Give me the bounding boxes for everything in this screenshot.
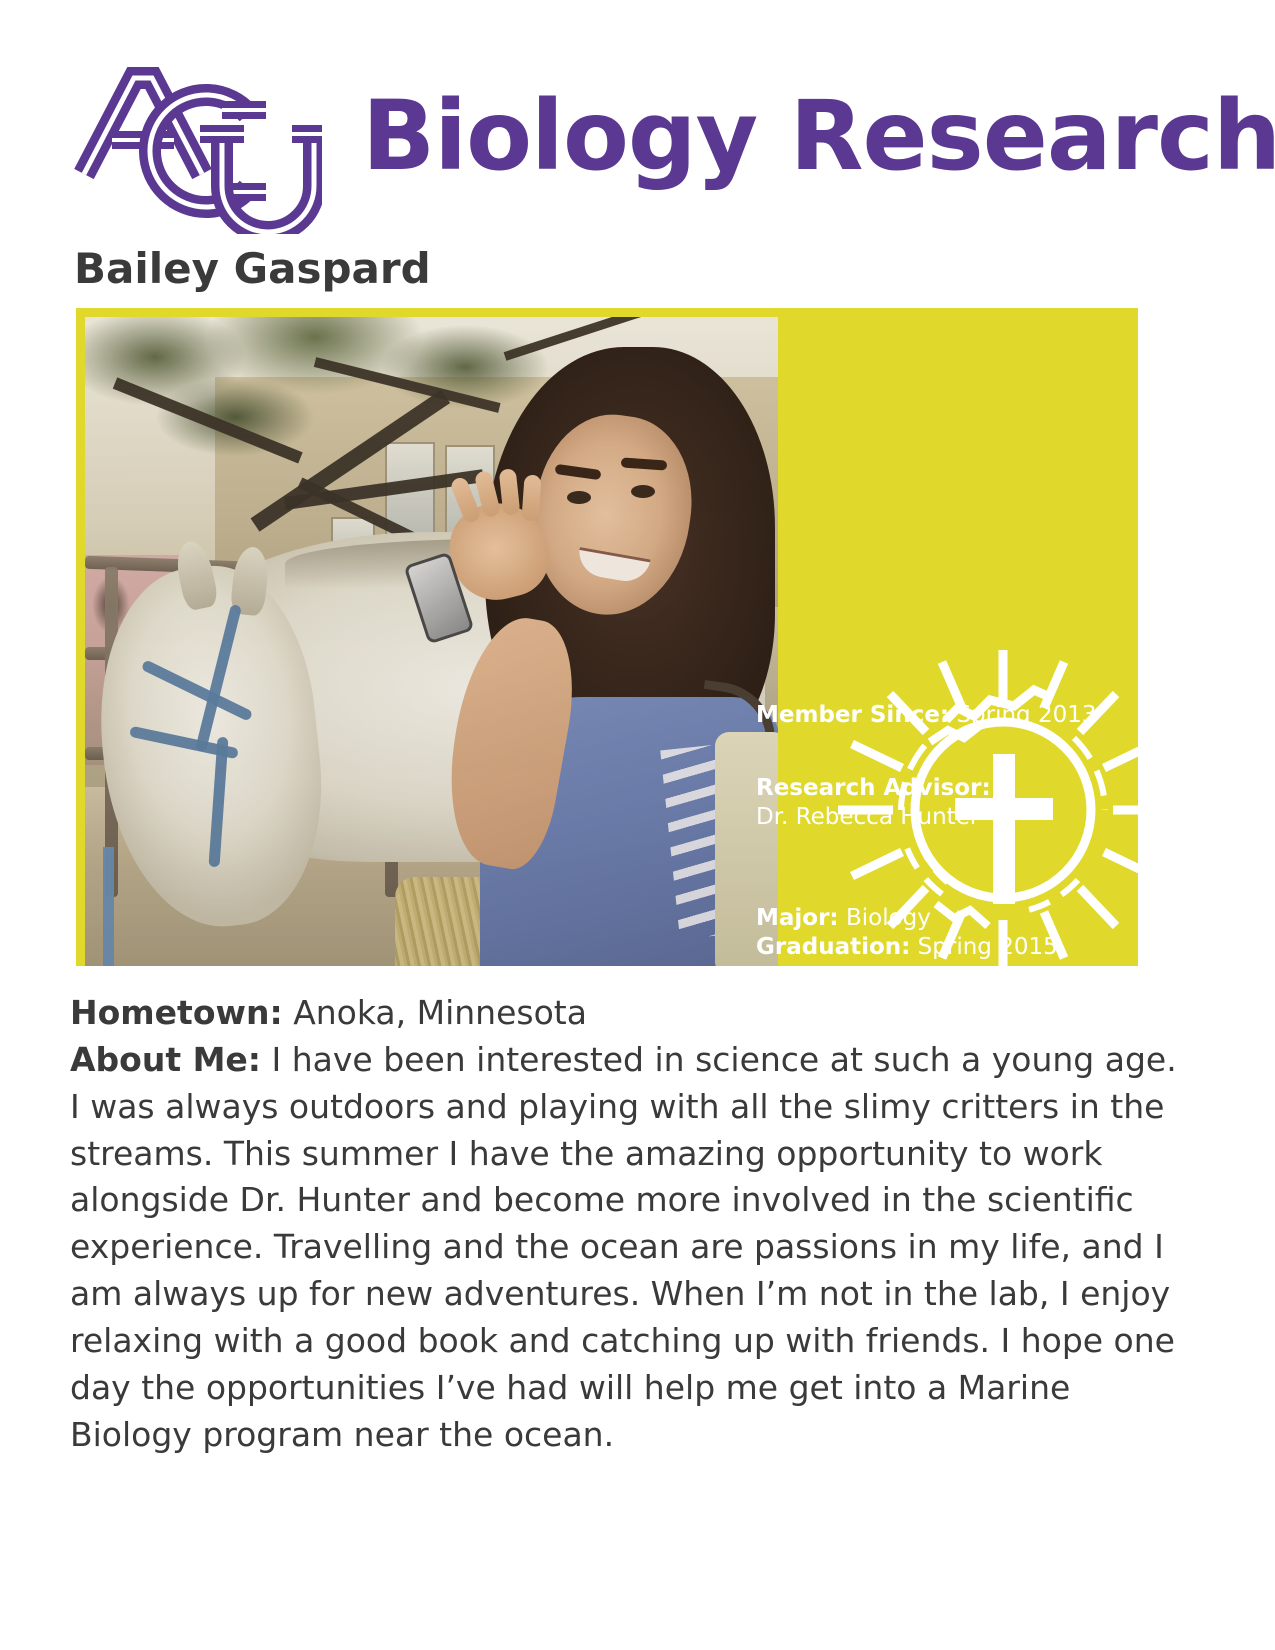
major-label: Major: [756,905,839,931]
photo-color-tint [85,317,778,966]
hometown-value: Anoka, Minnesota [293,993,587,1032]
hometown-line: Hometown: Anoka, Minnesota [70,990,1190,1037]
major-row: Major: Biology [756,904,1131,933]
advisor-label-row: Research Advisor: [756,774,1131,803]
about-me-value: I have been interested in science at suc… [70,1040,1177,1454]
member-since-value: Spring 2013 [956,702,1096,728]
bio-section: Hometown: Anoka, Minnesota About Me: I h… [70,990,1190,1459]
spacer [756,832,1131,904]
acu-logo-icon [72,62,322,234]
about-me-line: About Me: I have been interested in scie… [70,1037,1190,1459]
member-since-label: Member Since: [756,702,949,728]
major-value: Biology [846,905,931,931]
student-name-heading: Bailey Gaspard [74,244,431,293]
student-photo [85,317,778,966]
graduation-row: Graduation: Spring 2015 [756,933,1131,962]
graduation-label: Graduation: [756,934,910,960]
hometown-label: Hometown: [70,993,283,1032]
graduation-value: Spring 2015 [918,934,1058,960]
spacer [756,730,1131,774]
page-header: Biology Research [0,0,1275,240]
profile-panel: Member Since: Spring 2013 Research Advis… [76,308,1138,966]
advisor-value-row: Dr. Rebecca Hunter [756,803,1131,832]
profile-details: Member Since: Spring 2013 Research Advis… [756,701,1131,962]
page-title: Biology Research [362,88,1275,184]
member-since-row: Member Since: Spring 2013 [756,701,1131,730]
about-me-label: About Me: [70,1040,261,1079]
advisor-value: Dr. Rebecca Hunter [756,804,979,830]
advisor-label: Research Advisor: [756,775,991,801]
